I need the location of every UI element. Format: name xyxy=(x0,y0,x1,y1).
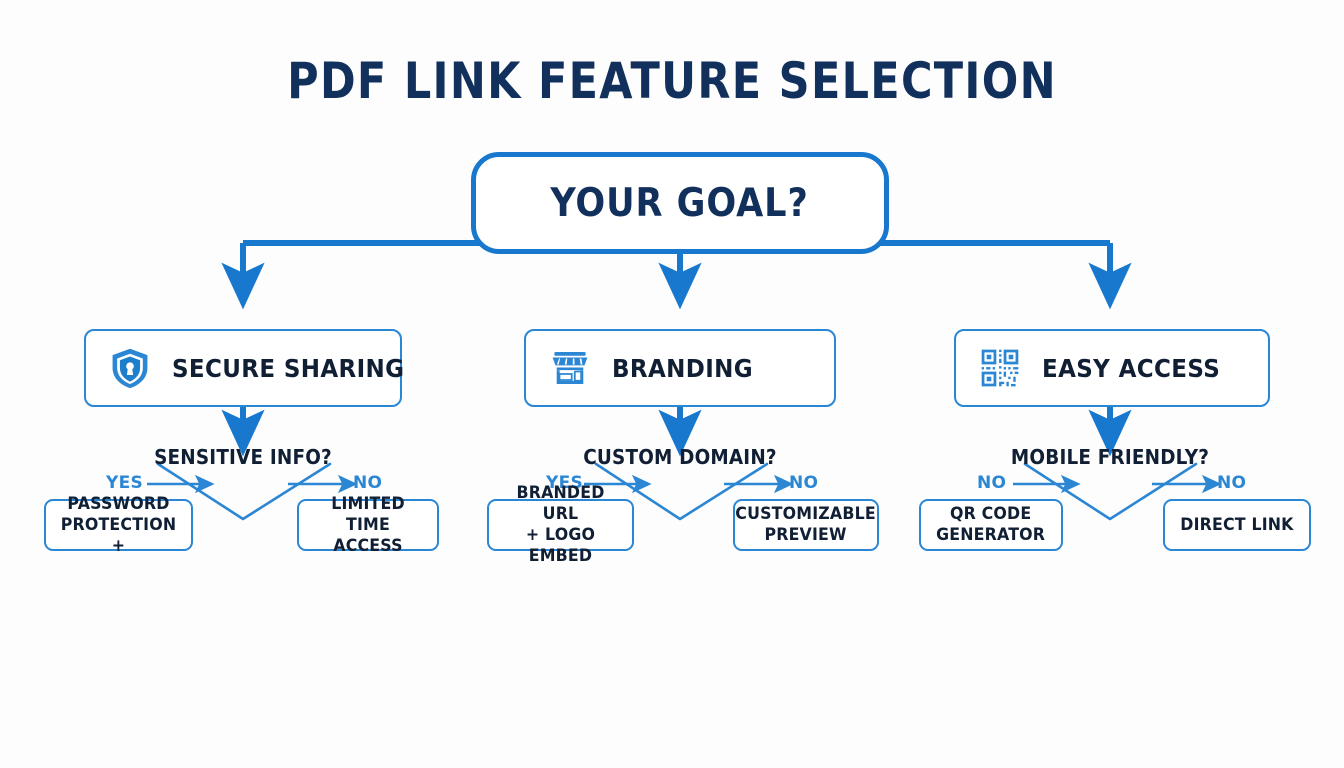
outcome-node-label: BRANDED URL+ LOGO EMBED xyxy=(494,483,627,567)
outcome-node-label: PASSWORDPROTECTION + xyxy=(51,494,186,557)
outcome-node-label: DIRECT LINK xyxy=(1175,515,1300,536)
branch-label-yes: YES xyxy=(106,473,143,493)
outcome-node-limited-time-access[interactable]: LIMITED TIMEACCESS xyxy=(297,499,439,551)
category-to-question-connectors xyxy=(243,407,1110,433)
decision-question-custom-domain: CUSTOM DOMAIN? xyxy=(542,445,818,469)
qr-code-icon xyxy=(978,346,1022,390)
decision-question-sensitive-info: SENSITIVE INFO? xyxy=(105,445,381,469)
page-title: PDF LINK FEATURE SELECTION xyxy=(94,52,1250,110)
outcome-node-customizable-preview[interactable]: CUSTOMIZABLEPREVIEW xyxy=(733,499,879,551)
decision-question-mobile-friendly: MOBILE FRIENDLY? xyxy=(972,445,1248,469)
category-node-label: BRANDING xyxy=(612,354,753,383)
branch-label-no: NO xyxy=(1217,473,1246,493)
storefront-icon xyxy=(548,346,592,390)
outcome-node-label: QR CODEGENERATOR xyxy=(931,504,1051,546)
flowchart-canvas: PDF LINK FEATURE SELECTION YOUR GOAL? SE… xyxy=(0,0,1344,768)
shield-lock-icon xyxy=(108,346,152,390)
outcome-node-direct-link[interactable]: DIRECT LINK xyxy=(1163,499,1311,551)
branch-label-yes: NO xyxy=(977,473,1006,493)
root-node-your-goal[interactable]: YOUR GOAL? xyxy=(471,152,889,254)
branch-label-no: NO xyxy=(789,473,818,493)
branch-label-no: NO xyxy=(353,473,382,493)
outcome-node-label: LIMITED TIMEACCESS xyxy=(304,494,432,557)
category-node-branding[interactable]: BRANDING xyxy=(524,329,836,407)
category-node-secure-sharing[interactable]: SECURE SHARING xyxy=(84,329,402,407)
outcome-node-branded-url[interactable]: BRANDED URL+ LOGO EMBED xyxy=(487,499,634,551)
root-node-label: YOUR GOAL? xyxy=(551,181,809,226)
outcome-node-password-protection[interactable]: PASSWORDPROTECTION + xyxy=(44,499,193,551)
outcome-node-label: CUSTOMIZABLEPREVIEW xyxy=(730,504,882,546)
category-node-label: SECURE SHARING xyxy=(172,354,404,383)
outcome-node-qr-code-generator[interactable]: QR CODEGENERATOR xyxy=(919,499,1063,551)
category-node-easy-access[interactable]: EASY ACCESS xyxy=(954,329,1270,407)
category-node-label: EASY ACCESS xyxy=(1042,354,1220,383)
